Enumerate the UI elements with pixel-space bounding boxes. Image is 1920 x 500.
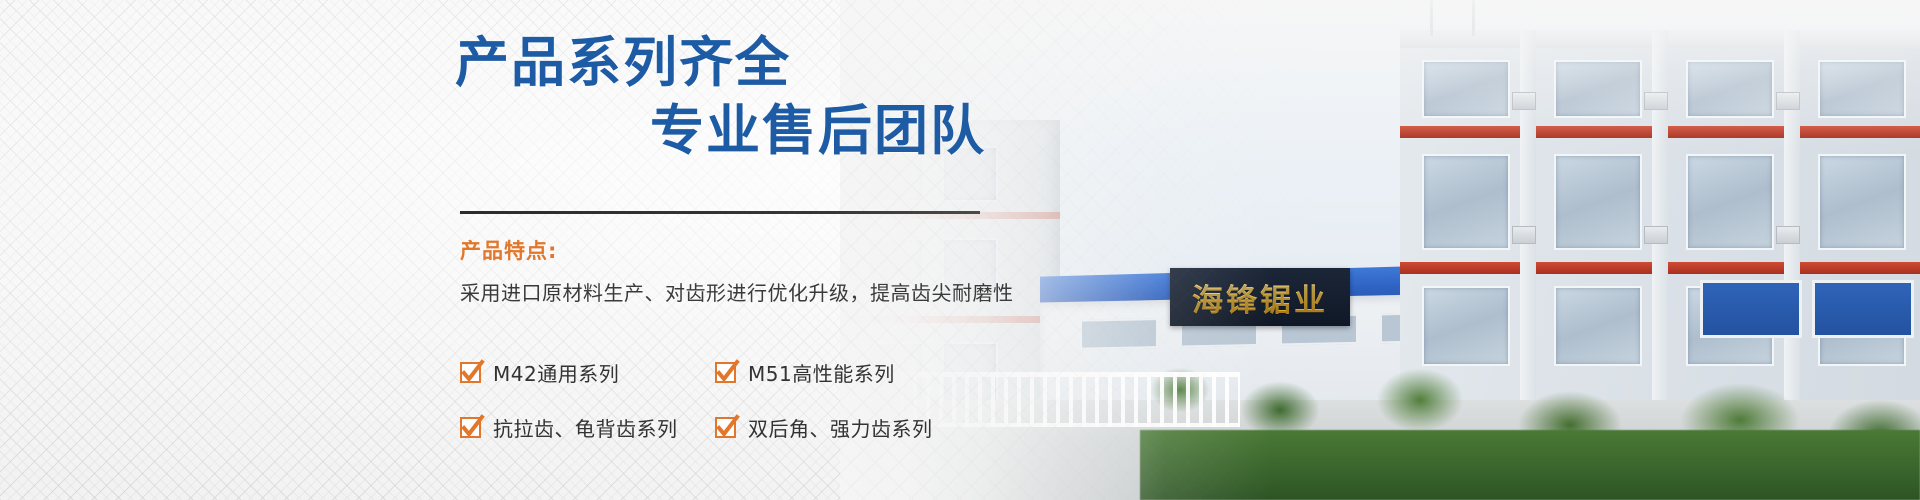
- feature-label: M42通用系列: [493, 358, 619, 387]
- product-description: 采用进口原材料生产、对齿形进行优化升级，提高齿尖耐磨性: [460, 277, 1014, 306]
- feature-row: M42通用系列 M51高性能系列: [460, 358, 980, 387]
- feature-item-tensile: 抗拉齿、龟背齿系列: [460, 413, 715, 442]
- checkbox-checked-icon: [460, 417, 481, 438]
- banner-copy: 产品系列齐全 专业售后团队 产品特点: 采用进口原材料生产、对齿形进行优化升级，…: [0, 0, 1000, 500]
- product-features-label: 产品特点:: [460, 235, 557, 265]
- factory-photo: 海锋锯业: [840, 0, 1920, 500]
- feature-list: M42通用系列 M51高性能系列: [460, 358, 980, 442]
- headline-line-2: 专业售后团队: [650, 104, 986, 158]
- photo-lattice-overlay: [840, 0, 1920, 500]
- product-banner: 海锋锯业 产品系列齐全 专业售后团队 产品特点: 采用进口原材料生产、对齿形进行…: [0, 0, 1920, 500]
- feature-label: M51高性能系列: [748, 358, 895, 387]
- feature-item-m42: M42通用系列: [460, 358, 715, 387]
- feature-label: 抗拉齿、龟背齿系列: [493, 413, 678, 442]
- checkbox-checked-icon: [715, 362, 736, 383]
- checkbox-checked-icon: [715, 417, 736, 438]
- feature-label: 双后角、强力齿系列: [748, 413, 933, 442]
- checkbox-checked-icon: [460, 362, 481, 383]
- feature-row: 抗拉齿、龟背齿系列 双后角、强力齿系列: [460, 413, 980, 442]
- headline-divider: [460, 211, 980, 214]
- feature-item-m51: M51高性能系列: [715, 358, 970, 387]
- feature-item-double-angle: 双后角、强力齿系列: [715, 413, 970, 442]
- headline-line-1: 产品系列齐全: [455, 36, 791, 90]
